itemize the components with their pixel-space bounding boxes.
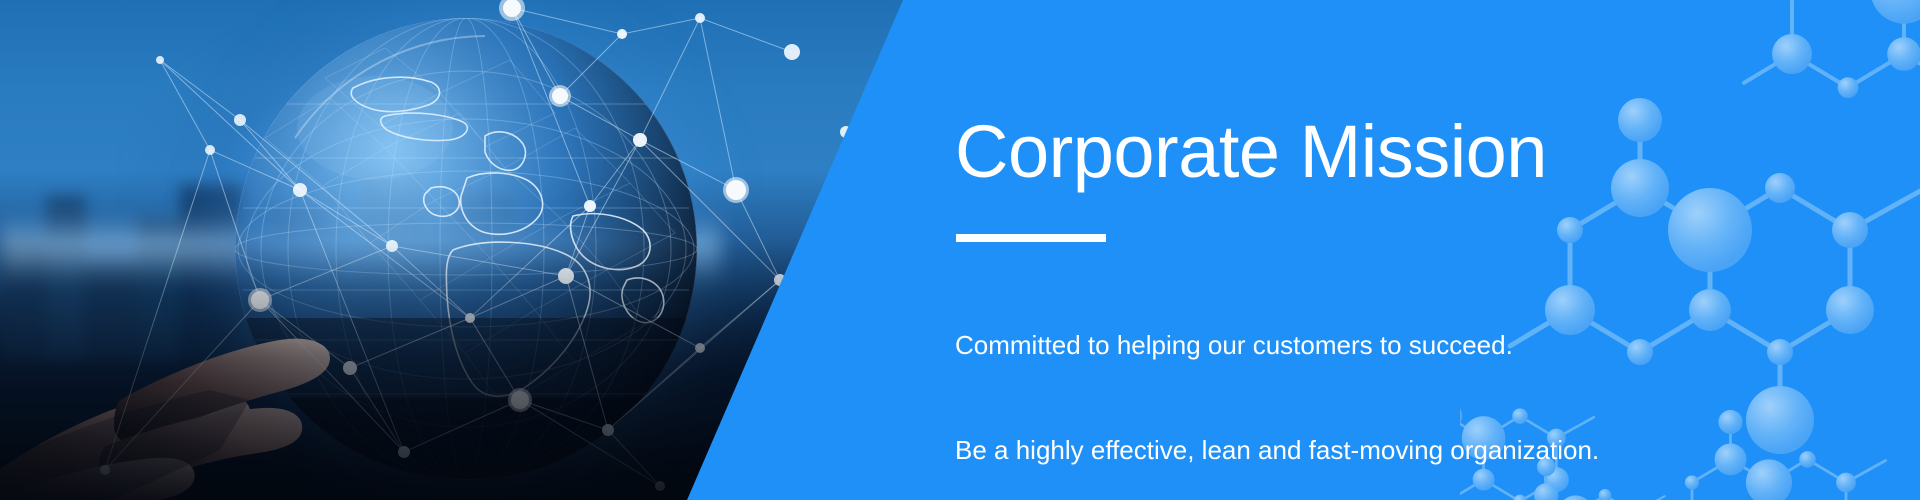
mission-statement: Committed to helping our customers to su… <box>955 258 1675 500</box>
title-divider <box>956 234 1106 242</box>
corporate-mission-banner: Corporate Mission Committed to helping o… <box>0 0 1920 500</box>
mission-content: Corporate Mission Committed to helping o… <box>955 0 1715 500</box>
mission-line-2: Be a highly effective, lean and fast-mov… <box>955 433 1675 468</box>
page-title: Corporate Mission <box>955 112 1547 192</box>
mission-line-1: Committed to helping our customers to su… <box>955 328 1675 363</box>
